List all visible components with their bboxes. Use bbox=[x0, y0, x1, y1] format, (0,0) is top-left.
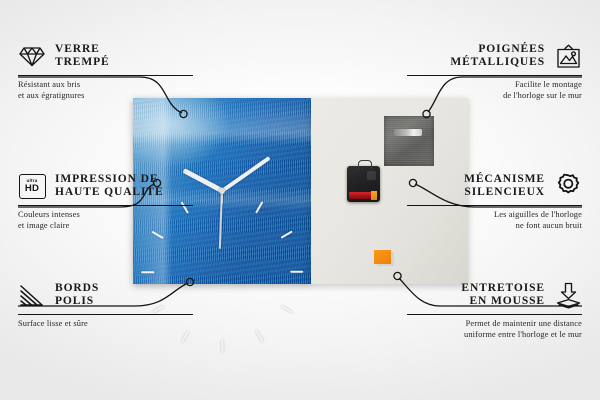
callout-divider bbox=[407, 314, 582, 315]
callout-divider bbox=[407, 205, 582, 206]
tick-mark bbox=[280, 305, 292, 314]
callout-bords-polis: BORDSPOLIS Surface lisse et sûre bbox=[18, 281, 193, 330]
hanger-slot bbox=[394, 129, 422, 136]
tick-mark bbox=[255, 201, 264, 213]
callout-title: POIGNÉESMÉTALLIQUES bbox=[450, 43, 545, 70]
callout-divider bbox=[18, 205, 193, 206]
tick-mark bbox=[141, 271, 154, 273]
callout-description: Résistant aux briset aux égratignures bbox=[18, 80, 193, 101]
callout-divider bbox=[18, 314, 193, 315]
gear-icon bbox=[554, 172, 582, 200]
product-infographic: VERRETREMPÉ Résistant aux briset aux égr… bbox=[0, 0, 600, 400]
clock-second-hand bbox=[219, 187, 223, 249]
callout-description: Permet de maintenir une distanceuniforme… bbox=[407, 319, 582, 340]
picture-frame-hanger-icon bbox=[554, 42, 582, 70]
clock-center-cap bbox=[219, 188, 225, 194]
mechanism-hanging-loop bbox=[358, 160, 372, 170]
callout-mecanisme-silencieux: MÉCANISMESILENCIEUX Les aiguilles de l'h… bbox=[407, 172, 582, 231]
callout-divider bbox=[18, 75, 193, 76]
callout-entretoise-en-mousse: ENTRETOISEEN MOUSSE Permet de maintenir … bbox=[407, 281, 582, 340]
foam-spacer bbox=[374, 250, 391, 264]
tick-mark bbox=[151, 230, 163, 239]
callout-poignees-metalliques: POIGNÉESMÉTALLIQUES Facilite le montaged… bbox=[407, 42, 582, 101]
foam-spacer-arrow-icon bbox=[554, 281, 582, 309]
callout-impression-haute-qualite: ultra HD IMPRESSION DEHAUTE QUALITÉ Coul… bbox=[18, 172, 193, 231]
callout-title: BORDSPOLIS bbox=[55, 282, 99, 309]
callout-title: MÉCANISMESILENCIEUX bbox=[464, 173, 545, 200]
callout-divider bbox=[407, 75, 582, 76]
clock-minute-hand bbox=[221, 156, 271, 193]
callout-title: ENTRETOISEEN MOUSSE bbox=[461, 282, 545, 309]
ultra-hd-icon: ultra HD bbox=[18, 172, 46, 200]
tick-mark bbox=[221, 191, 223, 204]
callout-verre-trempe: VERRETREMPÉ Résistant aux briset aux égr… bbox=[18, 42, 193, 101]
callout-description: Les aiguilles de l'horlogene font aucun … bbox=[407, 210, 582, 231]
tick-mark bbox=[290, 271, 303, 273]
diamond-icon bbox=[18, 42, 46, 70]
polished-edge-icon bbox=[18, 281, 46, 309]
callout-title: IMPRESSION DEHAUTE QUALITÉ bbox=[55, 173, 164, 200]
mechanism-detail bbox=[367, 171, 376, 180]
clock-mechanism bbox=[347, 166, 380, 202]
tick-mark bbox=[280, 230, 292, 239]
metal-hanger-plate bbox=[384, 116, 434, 166]
tick-mark bbox=[180, 330, 189, 342]
tick-mark bbox=[221, 340, 223, 353]
callout-description: Couleurs intenseset image claire bbox=[18, 210, 193, 231]
callout-description: Facilite le montagede l'horloge sur le m… bbox=[407, 80, 582, 101]
callout-description: Surface lisse et sûre bbox=[18, 319, 193, 330]
callout-title: VERRETREMPÉ bbox=[55, 43, 110, 70]
ultra-hd-main-label: HD bbox=[25, 184, 39, 194]
tick-mark bbox=[255, 330, 264, 342]
battery bbox=[349, 192, 376, 199]
